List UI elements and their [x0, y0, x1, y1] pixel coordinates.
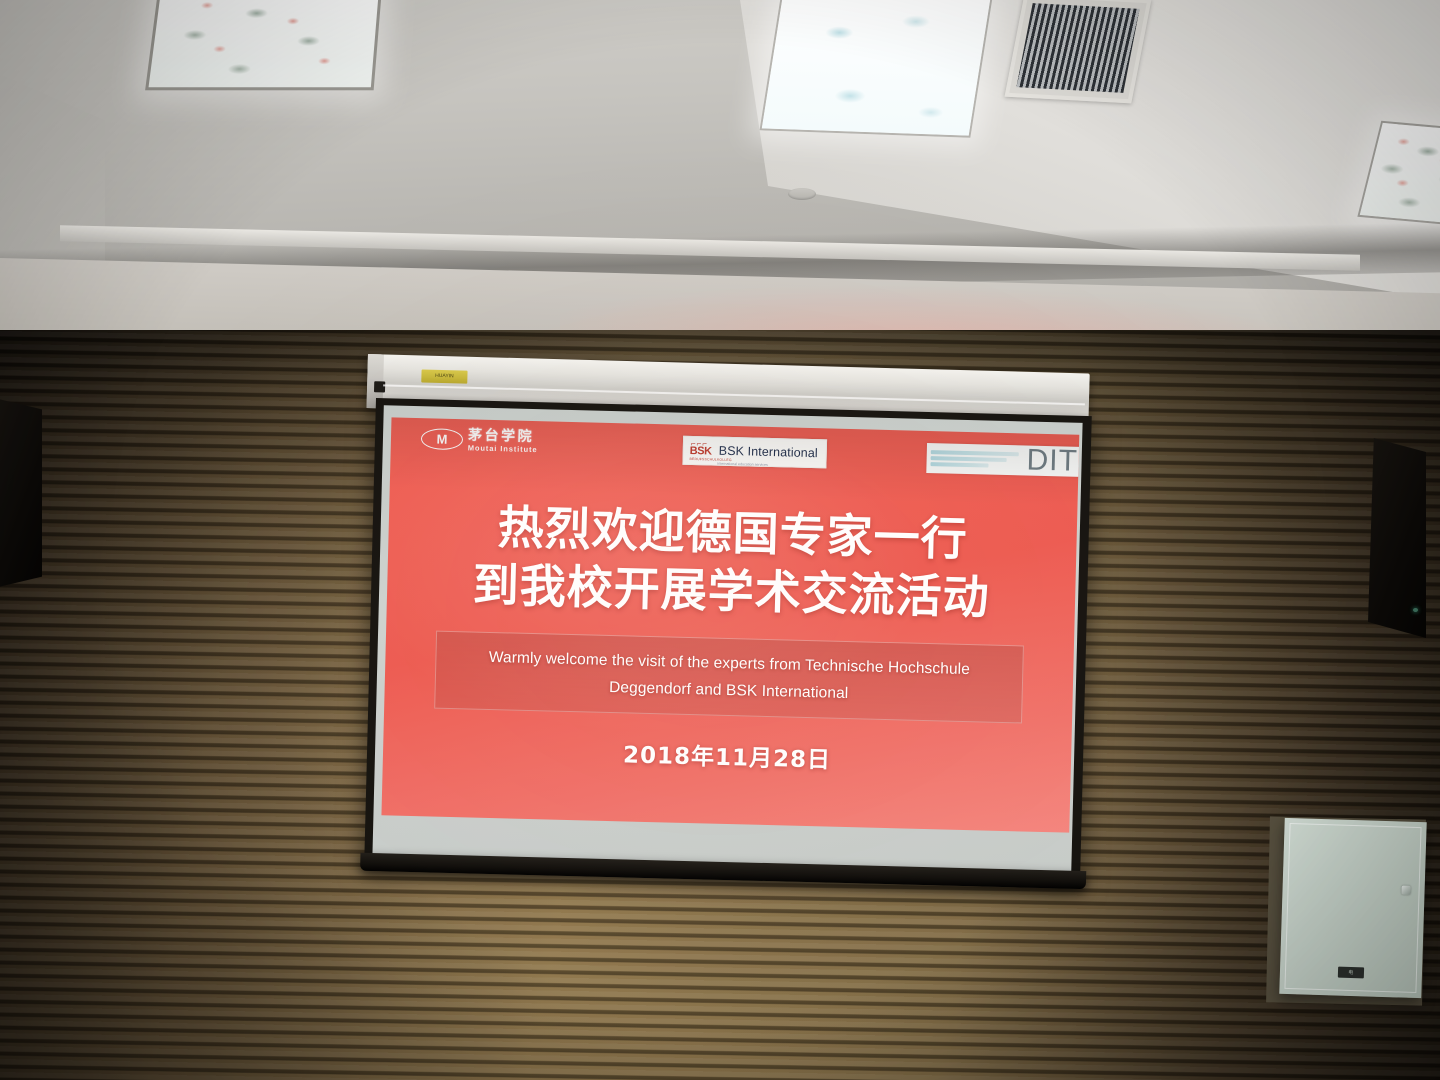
bsk-tagline: international education services: [717, 462, 767, 467]
moutai-emblem-icon: M: [421, 428, 464, 450]
utility-cabinet[interactable]: 电: [1279, 818, 1426, 998]
moutai-name-en: Moutai Institute: [468, 444, 538, 453]
projection-screen[interactable]: M 茅台学院 Moutai Institute ⌐⌐⌐ BSK: [364, 398, 1092, 880]
cabinet-latch-icon[interactable]: [1401, 886, 1410, 895]
wall-speaker-right: [1368, 438, 1426, 638]
slide-logo-bar: M 茅台学院 Moutai Institute ⌐⌐⌐ BSK: [390, 417, 1079, 480]
emblem-letter: M: [430, 432, 454, 448]
conference-room-scene: HUAYIN M 茅台学院: [0, 0, 1440, 1080]
dit-abbrev: DIT: [1026, 443, 1078, 477]
cabinet-label-plate: 电: [1338, 967, 1364, 979]
ceiling-light-panel-left: [145, 0, 382, 90]
moutai-institute-logo: M 茅台学院 Moutai Institute: [421, 427, 538, 453]
bsk-name: BSK International: [719, 444, 818, 461]
english-line-2: Deggendorf and BSK International: [609, 674, 849, 707]
projected-slide: M 茅台学院 Moutai Institute ⌐⌐⌐ BSK: [381, 417, 1079, 832]
ir-sensor-icon: [374, 381, 385, 392]
slide-headline: 热烈欢迎德国专家一行 到我校开展学术交流活动: [387, 495, 1078, 628]
bsk-international-logo: ⌐⌐⌐ BSK BERUFSSCHULKOLLEG BSK Internatio…: [682, 436, 827, 469]
dit-wordmark-lines: [930, 448, 1026, 470]
vent-louvers-icon: [1016, 3, 1139, 93]
dit-wordmark-line: [931, 456, 1007, 462]
screen-surface: M 茅台学院 Moutai Institute ⌐⌐⌐ BSK: [372, 405, 1082, 873]
cabinet-plate-text: 电: [1348, 969, 1354, 976]
dit-logo: DIT: [926, 443, 1079, 477]
ceiling-light-panel-center: [759, 0, 992, 138]
housing-brand-label: HUAYIN: [421, 369, 467, 383]
bsk-emblem-icon: ⌐⌐⌐ BSK BERUFSSCHULKOLLEG: [690, 440, 714, 461]
smoke-detector: [788, 188, 816, 200]
speaker-power-led-icon: [1413, 608, 1418, 612]
hvac-supply-vent: [1005, 0, 1152, 103]
moutai-wordmark: 茅台学院 Moutai Institute: [468, 428, 538, 453]
slide-english-subtitle-band: Warmly welcome the visit of the experts …: [434, 631, 1024, 724]
screen-border-frame: M 茅台学院 Moutai Institute ⌐⌐⌐ BSK: [364, 398, 1092, 880]
light-diffuser-pattern: [149, 0, 380, 87]
dit-wordmark-line: [930, 462, 988, 467]
wall-speaker-left: [0, 398, 42, 588]
moutai-name-cn: 茅台学院: [468, 428, 538, 444]
dit-wordmark-line: [931, 450, 1019, 456]
bsk-letters: BSK: [690, 446, 712, 458]
light-diffuser-pattern: [762, 0, 990, 136]
slide-date: 2018年11月28日: [383, 729, 1072, 780]
